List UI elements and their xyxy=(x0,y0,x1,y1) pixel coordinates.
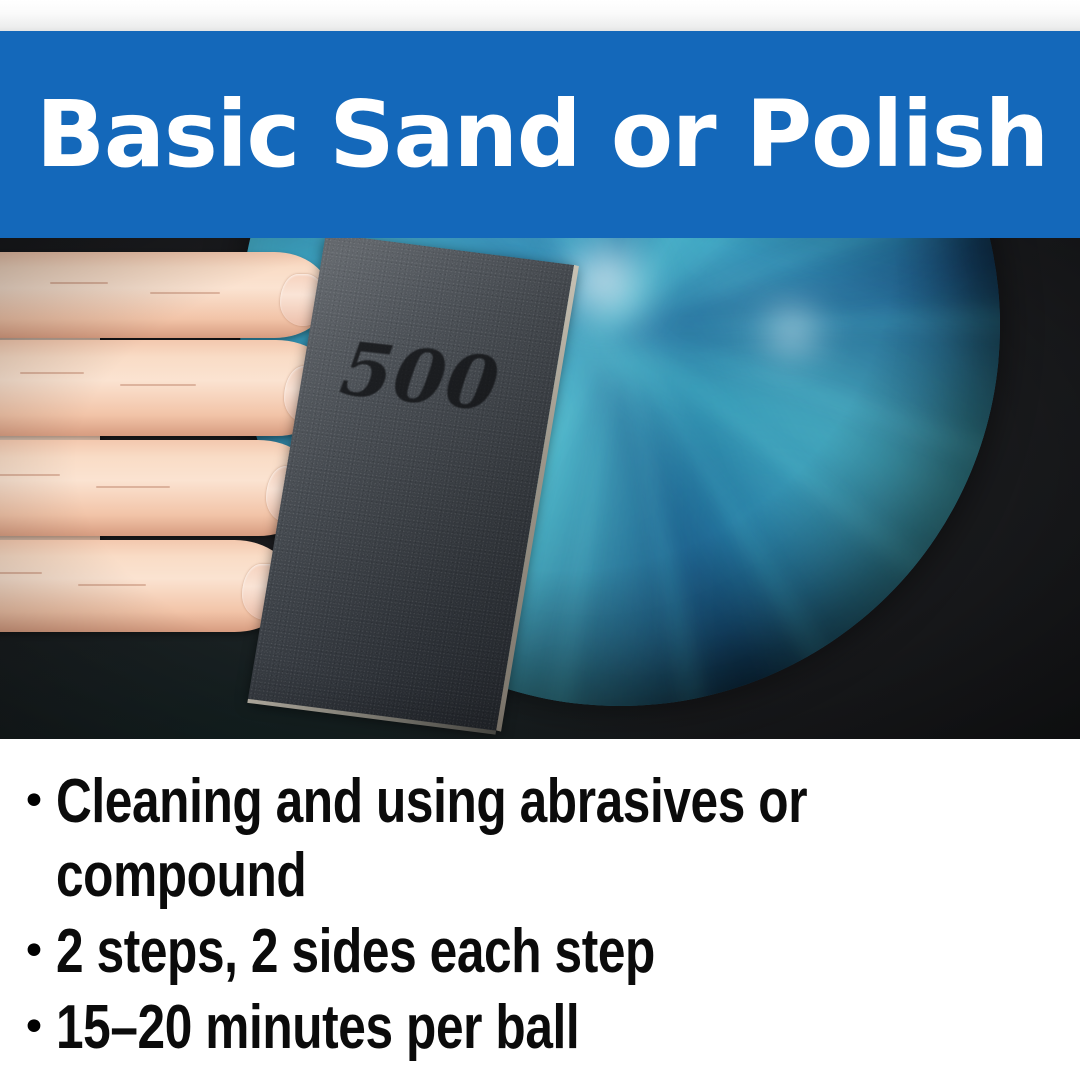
list-item: • 2 steps, 2 sides each step xyxy=(12,915,1056,989)
grit-number-label: 500 xyxy=(335,326,504,428)
list-item: • Cleaning and using abrasives or compou… xyxy=(12,765,1056,913)
list-item-label: Cleaning and using abrasives or compound xyxy=(56,765,856,913)
finger-pinky xyxy=(0,540,294,632)
top-light-strip xyxy=(0,0,1080,31)
ball-highlight-secondary xyxy=(749,296,835,366)
bullet-list: • Cleaning and using abrasives or compou… xyxy=(0,739,1080,1080)
list-item-label: 2 steps, 2 sides each step xyxy=(56,915,856,989)
finger-middle xyxy=(0,340,338,436)
title-bar: Basic Sand or Polish xyxy=(0,31,1080,238)
slide-root: Basic Sand or Polish xyxy=(0,0,1080,1080)
list-item: • 15–20 minutes per ball xyxy=(12,991,1056,1065)
list-item-label: 15–20 minutes per ball xyxy=(56,991,856,1065)
finger-index xyxy=(0,252,330,338)
page-title: Basic Sand or Polish xyxy=(36,89,1048,181)
finger-ring xyxy=(0,440,320,536)
bullet-marker-icon: • xyxy=(12,765,56,839)
photo-panel: 500 xyxy=(0,238,1080,739)
bullet-marker-icon: • xyxy=(12,991,56,1065)
bullet-marker-icon: • xyxy=(12,915,56,989)
